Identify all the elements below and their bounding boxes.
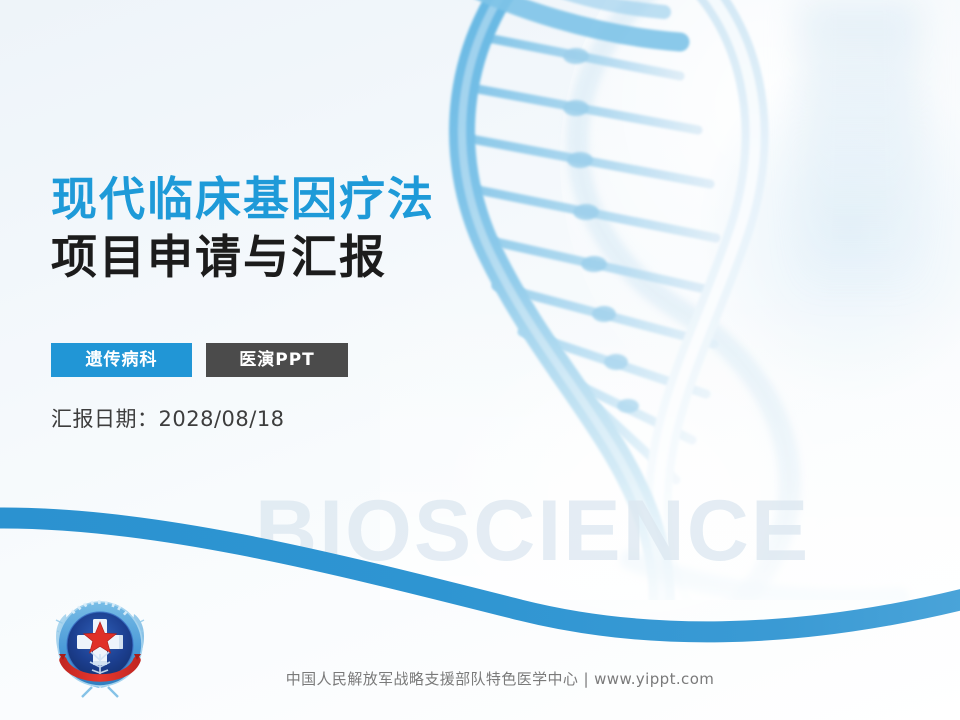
- badge-template-brand[interactable]: 医演PPT: [206, 343, 348, 377]
- background-glow-top-right: [560, 0, 960, 440]
- report-date: 汇报日期：2028/08/18: [51, 403, 285, 433]
- background-glow-secondary: [700, 60, 960, 400]
- badge-department[interactable]: 遗传病科: [51, 343, 192, 377]
- badge-group: 遗传病科 医演PPT: [51, 343, 348, 377]
- page-title-primary: 现代临床基因疗法: [51, 172, 435, 226]
- presentation-title-slide: BIOSCIENCE 现代临床基因疗法 项目申请与汇报 遗传病科 医演PPT 汇…: [0, 0, 960, 720]
- slide-title-block: 现代临床基因疗法 项目申请与汇报: [51, 172, 435, 285]
- footer-credit: 中国人民解放军战略支援部队特色医学中心 | www.yippt.com: [0, 668, 960, 689]
- page-title-secondary: 项目申请与汇报: [51, 230, 435, 284]
- background-glass-column: [800, 0, 920, 300]
